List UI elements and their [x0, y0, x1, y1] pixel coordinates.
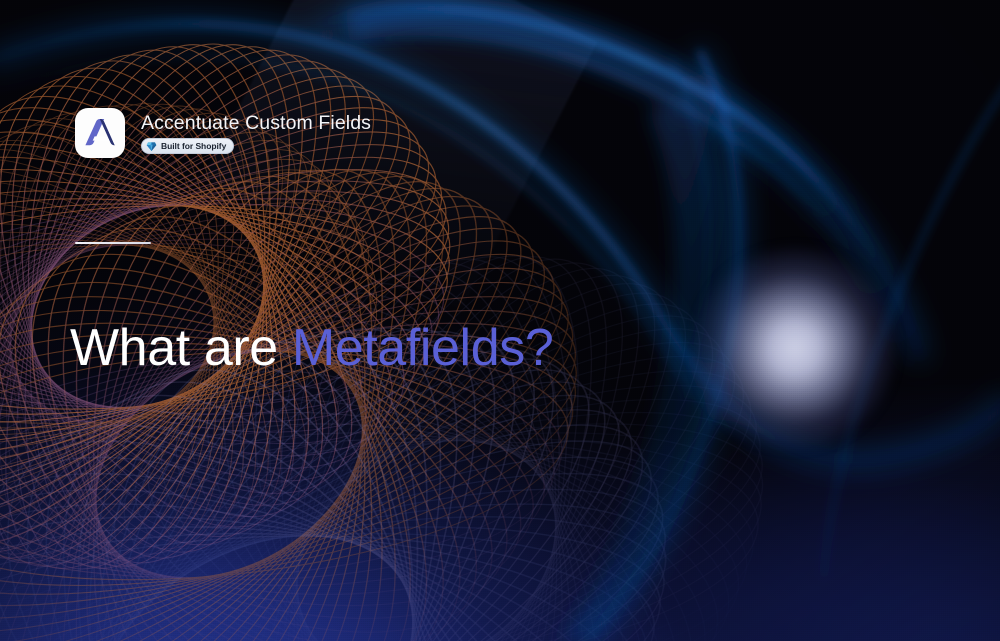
headline-highlight-text: Metafields? [292, 319, 554, 377]
presentation-slide: Accentuate Custom Fields Built for Shopi… [0, 0, 1000, 641]
brand-text: Accentuate Custom Fields Built for Shopi… [141, 112, 371, 154]
brand-row: Accentuate Custom Fields Built for Shopi… [75, 108, 371, 158]
headline-plain-text: What are [70, 319, 292, 377]
shopify-gem-icon [146, 141, 157, 152]
page-title: Accentuate Custom Fields [141, 112, 371, 134]
headline: What are Metafields? [70, 318, 553, 379]
status-badge: Built for Shopify [141, 138, 234, 154]
slide-content: Accentuate Custom Fields Built for Shopi… [0, 0, 1000, 641]
accentuate-a-logo-icon [75, 108, 125, 158]
divider-rule [75, 242, 151, 244]
badge-label: Built for Shopify [161, 142, 226, 151]
